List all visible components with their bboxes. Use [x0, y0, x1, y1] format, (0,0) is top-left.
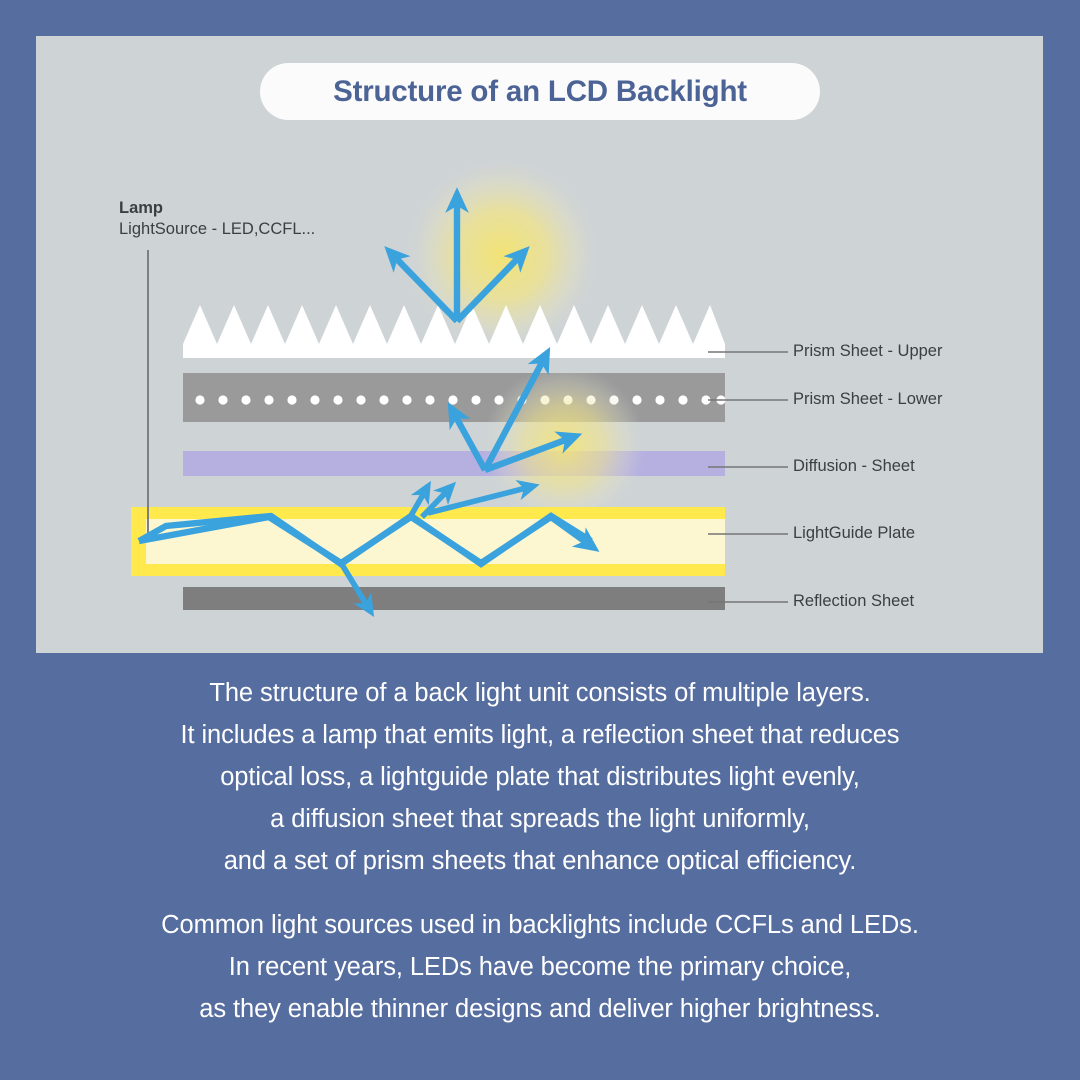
layer-label-diffusion-sheet: Diffusion - Sheet [793, 457, 915, 476]
caption-block: The structure of a back light unit consi… [0, 672, 1080, 1030]
caption-line: Common light sources used in backlights … [0, 904, 1080, 946]
reflection-sheet-layer [183, 587, 725, 610]
glow-circle-middle [482, 365, 646, 529]
page-title: Structure of an LCD Backlight [333, 75, 747, 109]
caption-line: a diffusion sheet that spreads the light… [0, 798, 1080, 840]
lightguide-plate-layer [131, 507, 725, 576]
layer-label-prism-sheet-upper: Prism Sheet - Upper [793, 342, 942, 361]
caption-line: and a set of prism sheets that enhance o… [0, 840, 1080, 882]
caption-line: The structure of a back light unit consi… [0, 672, 1080, 714]
lamp-label-subtitle: LightSource - LED,CCFL... [119, 219, 315, 240]
lamp-label: Lamp LightSource - LED,CCFL... [119, 198, 315, 240]
caption-line: In recent years, LEDs have become the pr… [0, 946, 1080, 988]
caption-line: optical loss, a lightguide plate that di… [0, 756, 1080, 798]
caption-paragraph-1: The structure of a back light unit consi… [0, 672, 1080, 882]
title-pill: Structure of an LCD Backlight [260, 63, 820, 120]
layer-label-reflection-sheet: Reflection Sheet [793, 592, 914, 611]
layer-label-lightguide-plate: LightGuide Plate [793, 524, 915, 543]
lamp-label-title: Lamp [119, 198, 315, 219]
caption-line: as they enable thinner designs and deliv… [0, 988, 1080, 1030]
caption-line: It includes a lamp that emits light, a r… [0, 714, 1080, 756]
caption-paragraph-2: Common light sources used in backlights … [0, 904, 1080, 1030]
layer-label-prism-sheet-lower: Prism Sheet - Lower [793, 390, 942, 409]
diagram-panel: Structure of an LCD Backlight Lamp Light… [36, 36, 1043, 653]
reflection-sheet-shape [183, 587, 725, 610]
